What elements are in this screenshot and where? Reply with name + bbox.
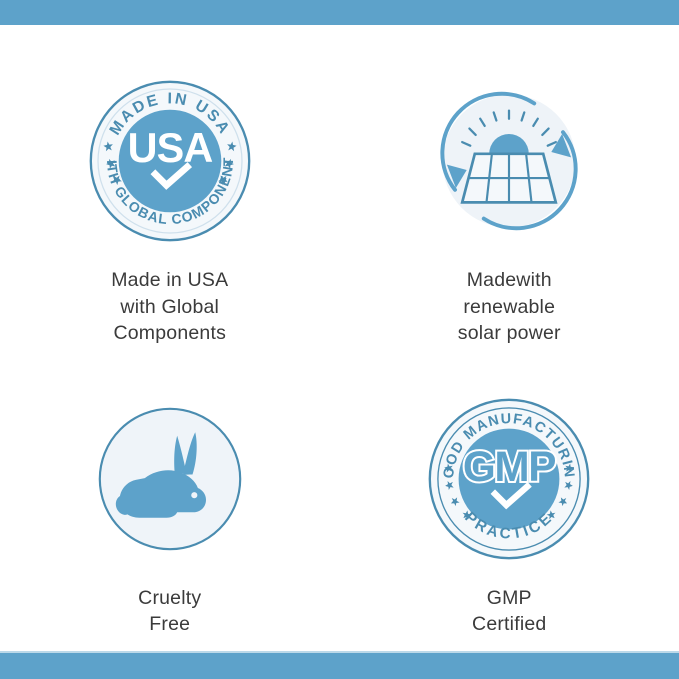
caption-line: Made in USA — [111, 267, 228, 294]
caption-line: Certified — [472, 611, 546, 638]
gmp-seal-icon: GOOD MANUFACTURING PRACTICE GMP — [419, 389, 599, 569]
caption-line: Components — [111, 320, 228, 347]
badge-card-cruelty-free: Cruelty Free — [0, 347, 340, 651]
badge-card-made-in-usa: MADE IN USA WITH GLOBAL COMPONENTS USA M… — [0, 25, 340, 347]
trust-badge-grid: MADE IN USA WITH GLOBAL COMPONENTS USA M… — [0, 25, 679, 651]
badge-caption-renewable-solar-power: Madewith renewable solar power — [458, 267, 561, 347]
caption-line: GMP — [472, 585, 546, 612]
bottom-accent-bar — [0, 651, 679, 679]
caption-line: Free — [138, 611, 201, 638]
seal-center-text: USA — [127, 125, 212, 171]
caption-line: Madewith — [458, 267, 561, 294]
caption-line: renewable — [458, 294, 561, 321]
made-in-usa-seal-icon: MADE IN USA WITH GLOBAL COMPONENTS USA — [80, 71, 260, 251]
badge-caption-cruelty-free: Cruelty Free — [138, 585, 201, 638]
caption-line: with Global — [111, 294, 228, 321]
solar-panel-renewable-icon — [419, 71, 599, 251]
badge-caption-gmp-certified: GMP Certified — [472, 585, 546, 638]
rabbit-cruelty-free-icon — [80, 389, 260, 569]
caption-line: Cruelty — [138, 585, 201, 612]
top-accent-bar — [0, 0, 679, 25]
seal-center-text: GMP — [463, 442, 555, 489]
badge-card-renewable-solar-power: Madewith renewable solar power — [340, 25, 679, 347]
badge-card-gmp-certified: GOOD MANUFACTURING PRACTICE GMP GMP Cert… — [340, 347, 679, 651]
solar-panel-icon — [462, 154, 556, 203]
badge-caption-made-in-usa: Made in USA with Global Components — [111, 267, 228, 347]
caption-line: solar power — [458, 320, 561, 347]
